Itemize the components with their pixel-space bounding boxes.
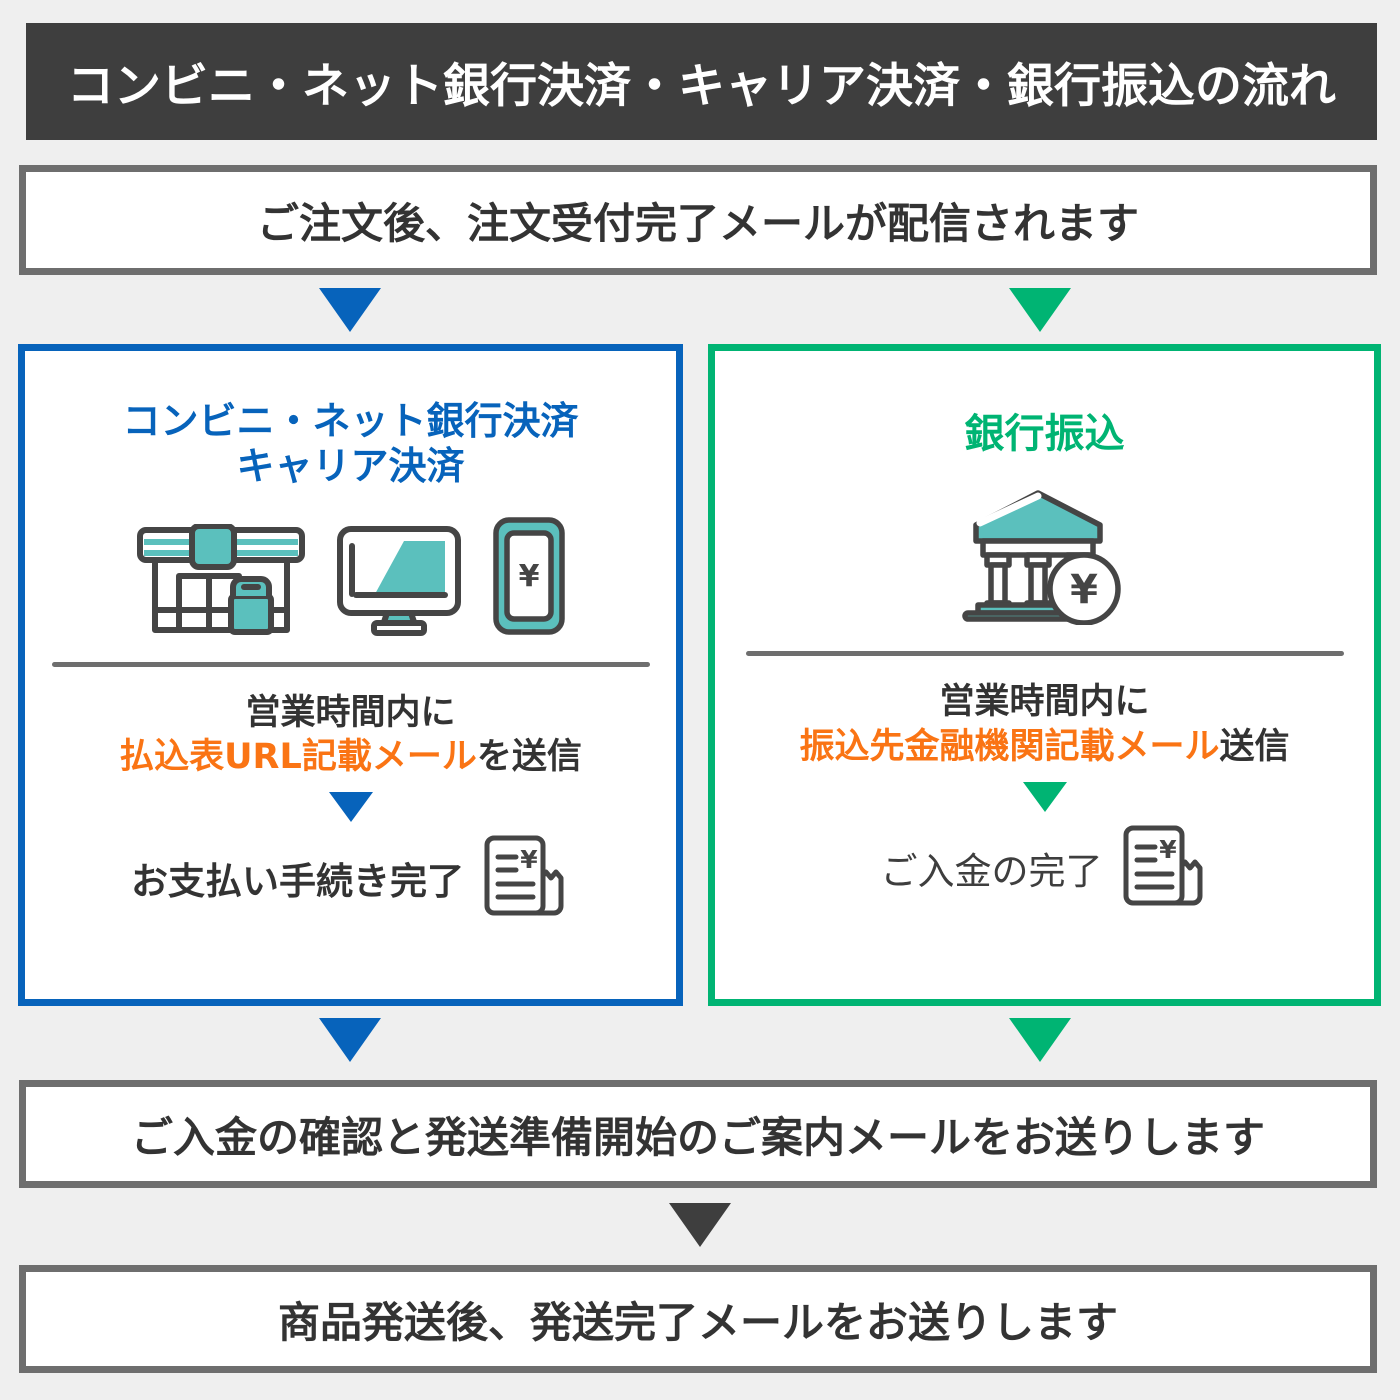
step-order-received: ご注文後、注文受付完了メールが配信されます xyxy=(19,165,1377,275)
panel-heading-line1: 銀行振込 xyxy=(715,411,1374,458)
result-text: ご入金の完了 xyxy=(881,841,1103,895)
note-line1: 営業時間内に xyxy=(25,691,676,736)
panel-convenience-store: コンビニ・ネット銀行決済 キャリア決済 xyxy=(18,344,683,1006)
svg-text:¥: ¥ xyxy=(1070,567,1098,613)
receipt-icon: ¥ xyxy=(1117,822,1209,914)
note-line1: 営業時間内に xyxy=(715,680,1374,725)
step-order-received-text: ご注文後、注文受付完了メールが配信されます xyxy=(257,190,1139,251)
panel-bank-transfer: 銀行振込 xyxy=(708,344,1381,1006)
panel-heading-line2: キャリア決済 xyxy=(25,444,676,489)
smartphone-yen-icon: ¥ xyxy=(491,516,567,640)
arrow-down-blue-bottom-icon xyxy=(319,1018,381,1062)
panel-bank-transfer-note: 営業時間内に 振込先金融機関記載メール送信 xyxy=(715,680,1374,770)
panel-bank-transfer-result: ご入金の完了 ¥ xyxy=(715,822,1374,914)
arrow-down-dark-icon xyxy=(669,1203,731,1247)
bank-icons: ¥ xyxy=(715,504,1374,629)
arrow-down-green-inner-icon xyxy=(1023,782,1067,812)
arrow-down-inner-green xyxy=(715,782,1374,812)
payment-method-icons: ¥ xyxy=(25,515,676,640)
panel-convenience-store-heading: コンビニ・ネット銀行決済 キャリア決済 xyxy=(25,399,676,489)
step-payment-confirmed-text: ご入金の確認と発送準備開始のご案内メールをお送りします xyxy=(131,1104,1265,1165)
step-shipped: 商品発送後、発送完了メールをお送りします xyxy=(19,1265,1377,1373)
note-suffix: を送信 xyxy=(477,737,582,777)
svg-text:¥: ¥ xyxy=(520,845,538,874)
note-suffix: 送信 xyxy=(1220,727,1290,767)
panel-divider xyxy=(746,651,1344,656)
note-line2: 払込表URL記載メールを送信 xyxy=(25,735,676,780)
panel-heading-line1: コンビニ・ネット銀行決済 xyxy=(25,399,676,444)
arrow-down-inner-blue xyxy=(25,792,676,822)
arrow-down-blue-top-icon xyxy=(319,288,381,332)
panel-divider xyxy=(52,662,650,667)
monitor-icon xyxy=(335,524,463,640)
flow-diagram: コンビニ・ネット銀行決済・キャリア決済・銀行振込の流れ ご注文後、注文受付完了メ… xyxy=(0,0,1400,1400)
panel-bank-transfer-heading: 銀行振込 xyxy=(715,411,1374,458)
panel-convenience-store-result: お支払い手続き完了 ¥ xyxy=(25,832,676,924)
bank-yen-icon: ¥ xyxy=(960,485,1130,629)
step-shipped-text: 商品発送後、発送完了メールをお送りします xyxy=(278,1289,1118,1350)
note-highlight: 払込表URL記載メール xyxy=(119,737,477,777)
arrow-down-green-top-icon xyxy=(1009,288,1071,332)
note-highlight: 振込先金融機関記載メール xyxy=(799,727,1219,767)
page-title: コンビニ・ネット銀行決済・キャリア決済・銀行振込の流れ xyxy=(26,23,1377,140)
arrow-down-blue-inner-icon xyxy=(329,792,373,822)
svg-text:¥: ¥ xyxy=(518,559,539,594)
store-icon xyxy=(135,524,307,640)
result-text: お支払い手続き完了 xyxy=(131,851,464,905)
svg-text:¥: ¥ xyxy=(1159,835,1177,864)
note-line2: 振込先金融機関記載メール送信 xyxy=(715,725,1374,770)
receipt-icon: ¥ xyxy=(478,832,570,924)
arrow-down-green-bottom-icon xyxy=(1009,1018,1071,1062)
step-payment-confirmed: ご入金の確認と発送準備開始のご案内メールをお送りします xyxy=(19,1080,1377,1188)
page-title-text: コンビニ・ネット銀行決済・キャリア決済・銀行振込の流れ xyxy=(67,47,1336,116)
panel-convenience-store-note: 営業時間内に 払込表URL記載メールを送信 xyxy=(25,691,676,781)
